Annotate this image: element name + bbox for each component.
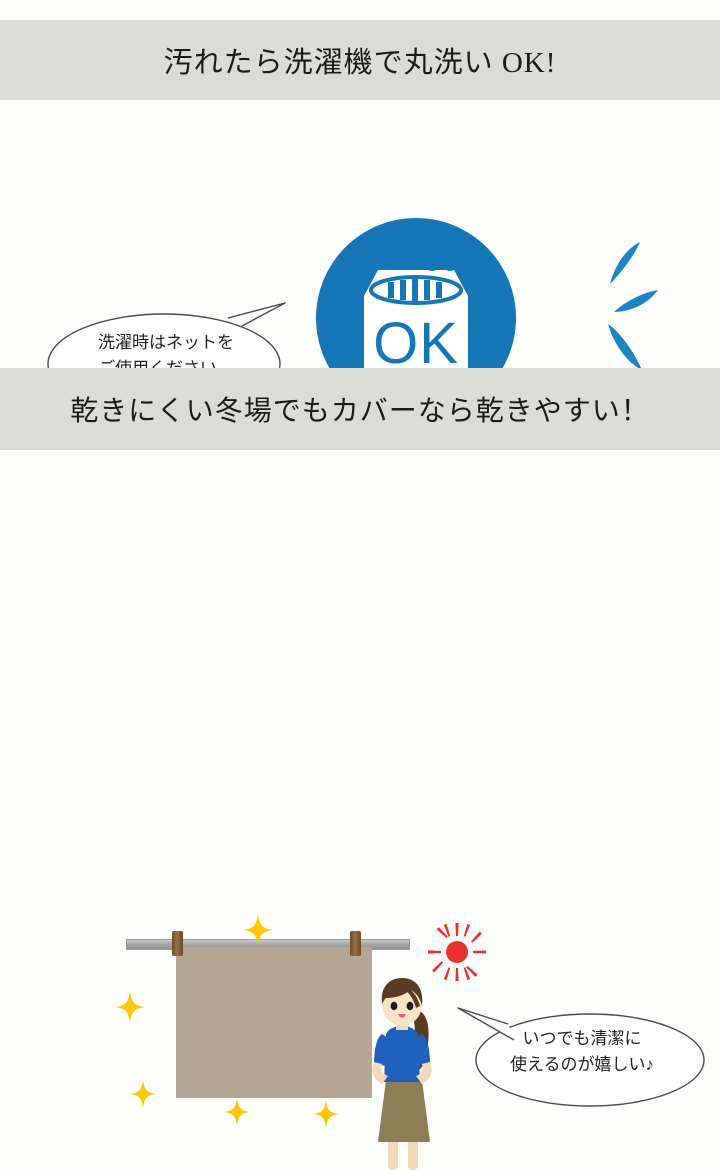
banner-washable: 汚れたら洗濯機で丸洗い OK! [0, 20, 720, 100]
woman-illustration [352, 976, 452, 1170]
speech-bubble-always-clean-text: いつでも清潔に 使えるのが嬉しい♪ [486, 1026, 678, 1079]
banner-washable-text: 汚れたら洗濯機で丸洗い OK! [164, 39, 557, 81]
clothespin-left [172, 931, 183, 956]
bubble-line-2: 使えるのが嬉しい♪ [486, 1052, 678, 1078]
banner-quick-dry-text: 乾きにくい冬場でもカバーなら乾きやすい！ [70, 389, 649, 429]
speech-bubble-always-clean: いつでも清潔に 使えるのが嬉しい♪ [456, 998, 708, 1108]
splash-drop-icon [604, 240, 644, 286]
splash-drop-icon [604, 322, 646, 372]
infographic-page: 汚れたら洗濯機で丸洗い OK! OK [0, 0, 720, 720]
bubble-line-1: 洗濯時はネットを [70, 330, 262, 356]
sparkle-icon [243, 914, 273, 946]
banner-quick-dry: 乾きにくい冬場でもカバーなら乾きやすい！ [0, 368, 720, 450]
splash-drop-icon [612, 286, 660, 318]
sun-icon [428, 923, 486, 981]
section-drying: いつでも清潔に 使えるのが嬉しい♪ [0, 450, 720, 720]
sparkle-icon [130, 1080, 156, 1108]
hanging-cover-cloth [176, 947, 372, 1098]
sparkle-icon [313, 1100, 339, 1128]
sparkle-icon [224, 1098, 250, 1126]
sparkle-icon [115, 991, 145, 1023]
svg-text:OK: OK [373, 311, 459, 376]
clothespin-right [350, 931, 361, 956]
bubble-line-1: いつでも清潔に [486, 1026, 678, 1052]
section-washable: OK 洗濯時はネットを ご使用ください。 [0, 100, 720, 368]
